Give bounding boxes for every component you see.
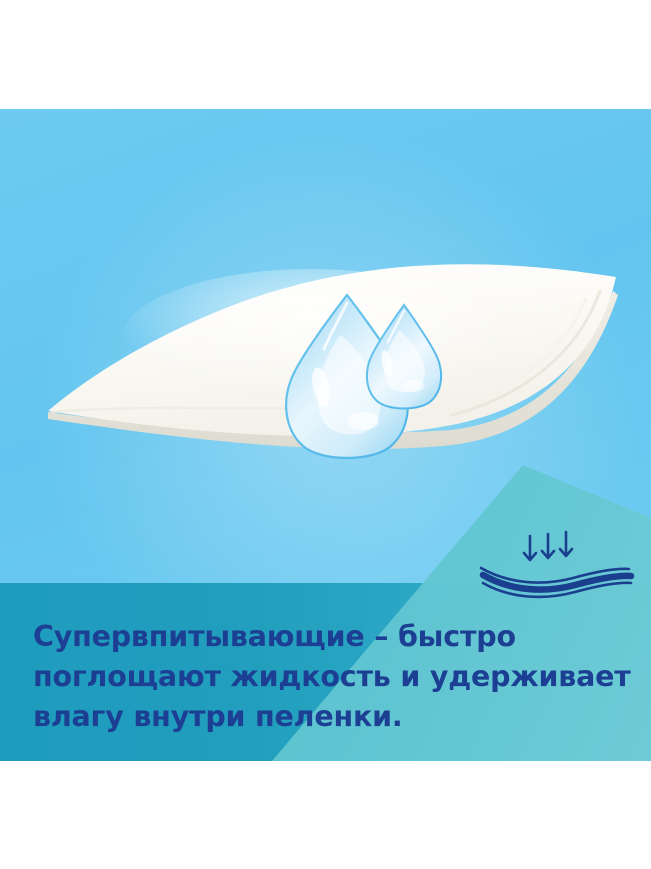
down-arrow-icon-3 [560,532,572,556]
absorption-wave-icon [475,530,635,600]
promo-poster: Супервпитывающие – быстро поглощают жидк… [0,0,651,869]
bottom-white-band [0,761,651,869]
down-arrow-icon-2 [542,534,554,558]
caption-text: Супервпитывающие – быстро поглощают жидк… [33,617,633,737]
top-white-band [0,0,651,109]
down-arrow-icon-1 [524,536,536,560]
